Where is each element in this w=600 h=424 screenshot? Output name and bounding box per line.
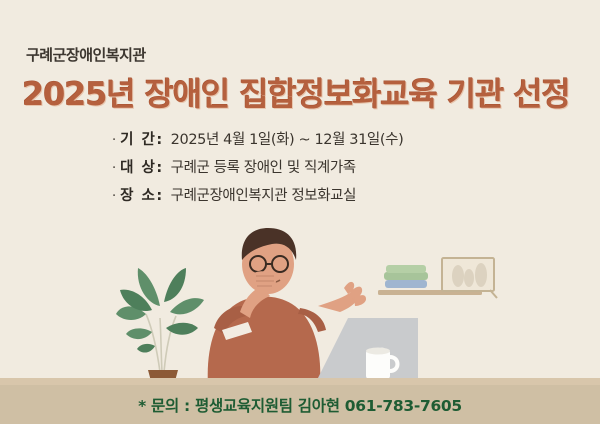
bullet-icon: · — [112, 189, 116, 204]
info-value-target: 구례군 등록 장애인 및 직계가족 — [171, 156, 356, 177]
contact-footer: * 문의 : 평생교육지원팀 김아현 061-783-7605 — [0, 385, 600, 424]
poster-root: 구례군장애인복지관 2025년 장애인 집합정보화교육 기관 선정 · 기 간:… — [0, 0, 600, 424]
info-label-target: 대 상: — [120, 156, 164, 177]
info-list: · 기 간: 2025년 4월 1일(화) ~ 12월 31일(수) · 대 상… — [112, 128, 403, 205]
picture-frame-icon — [442, 258, 497, 298]
illustration-person-at-desk — [0, 210, 600, 385]
desk-surface — [0, 378, 600, 385]
list-item: · 장 소: 구례군장애인복지관 정보화교실 — [112, 184, 403, 205]
potted-plant-icon — [116, 268, 204, 385]
info-value-place: 구례군장애인복지관 정보화교실 — [171, 184, 356, 205]
contact-text: * 문의 : 평생교육지원팀 김아현 061-783-7605 — [138, 394, 462, 416]
list-item: · 대 상: 구례군 등록 장애인 및 직계가족 — [112, 156, 403, 177]
organization-name: 구례군장애인복지관 — [26, 44, 146, 65]
page-title: 2025년 장애인 집합정보화교육 기관 선정 — [22, 69, 570, 115]
bullet-icon: · — [112, 161, 116, 176]
info-value-period: 2025년 4월 1일(화) ~ 12월 31일(수) — [171, 128, 404, 149]
list-item: · 기 간: 2025년 4월 1일(화) ~ 12월 31일(수) — [112, 128, 403, 149]
info-label-place: 장 소: — [120, 184, 164, 205]
info-label-period: 기 간: — [120, 128, 164, 149]
bullet-icon: · — [112, 133, 116, 148]
